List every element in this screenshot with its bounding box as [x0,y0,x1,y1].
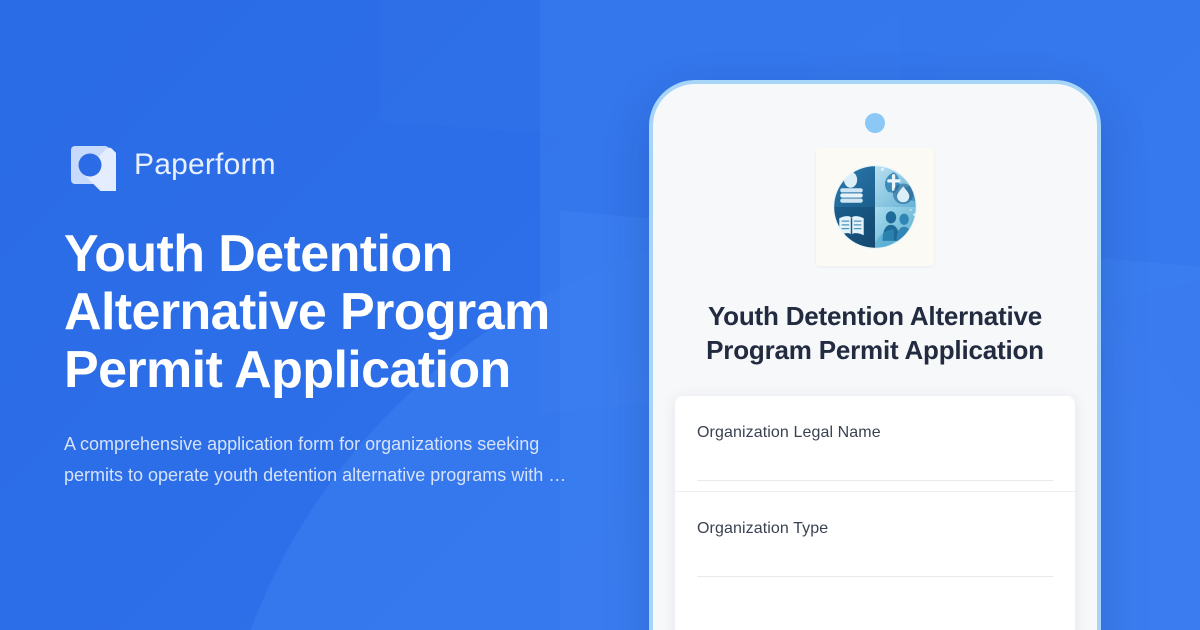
phone-mockup: Youth Detention Alternative Program Perm… [649,80,1101,630]
form-title: Youth Detention Alternative Program Perm… [665,300,1085,368]
text-input[interactable] [697,576,1053,577]
field-organization-legal-name[interactable]: Organization Legal Name [675,396,1075,481]
page-description: A comprehensive application form for org… [64,429,584,491]
field-label: Organization Legal Name [697,424,1053,442]
paperform-star-logo-icon [64,139,116,191]
promo-banner: Paperform Youth Detention Alternative Pr… [0,0,1200,630]
hero-content: Paperform Youth Detention Alternative Pr… [64,0,664,630]
form-fields-card: Organization Legal Name Organization Typ… [675,396,1075,630]
brand-lockup[interactable]: Paperform [64,139,664,191]
field-label: Organization Type [697,520,1053,538]
form-preview: Youth Detention Alternative Program Perm… [653,84,1097,630]
form-logo [816,148,934,266]
field-organization-type[interactable]: Organization Type [675,492,1075,577]
page-title: Youth Detention Alternative Program Perm… [64,225,584,400]
text-input[interactable] [697,480,1053,481]
brand-name-label: Paperform [134,148,276,182]
community-services-quadrant-icon [828,160,922,254]
